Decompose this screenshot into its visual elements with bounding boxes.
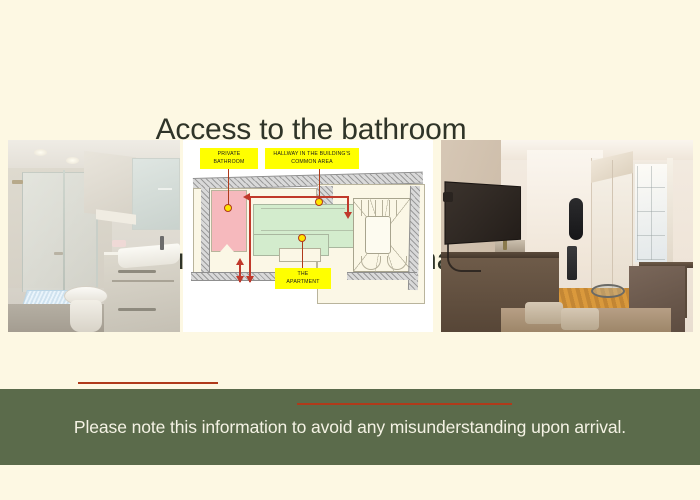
connector-line-bathroom bbox=[78, 382, 218, 384]
callout-line: HALLWAY IN THE BUILDING’S COMMON AREA bbox=[269, 151, 355, 166]
route-arrow-left bbox=[243, 193, 250, 201]
callout-line: THE APARTMENT bbox=[279, 271, 327, 286]
soap-dish bbox=[112, 240, 126, 247]
anchor-dot-bathroom bbox=[224, 204, 232, 212]
drawer-handle bbox=[118, 270, 156, 273]
ceiling-light-icon bbox=[34, 149, 47, 156]
folded-towel bbox=[525, 302, 563, 324]
stick-vacuum bbox=[567, 246, 577, 280]
callout-line: PRIVATE BATHROOM bbox=[204, 151, 254, 166]
mirror-reflection bbox=[158, 188, 172, 190]
callout-private-bathroom: PRIVATE BATHROOM bbox=[200, 148, 258, 169]
route-arrow-down bbox=[344, 212, 352, 219]
media-row: PRIVATE BATHROOM HALLWAY IN THE BUILDING… bbox=[0, 140, 700, 332]
callout-hallway: HALLWAY IN THE BUILDING’S COMMON AREA bbox=[265, 148, 359, 169]
faucet-icon bbox=[160, 236, 164, 250]
plan-partition-line bbox=[261, 208, 345, 209]
cable-bundle bbox=[447, 244, 481, 272]
glass-side-table bbox=[591, 284, 625, 298]
notice-banner: Please note this information to avoid an… bbox=[0, 389, 700, 465]
stair-straight-treads bbox=[361, 200, 401, 216]
callout-apartment: THE APARTMENT bbox=[275, 268, 331, 289]
building-floor-plan: PRIVATE BATHROOM HALLWAY IN THE BUILDING… bbox=[183, 140, 433, 332]
floor-plan-stage: PRIVATE BATHROOM HALLWAY IN THE BUILDING… bbox=[183, 140, 433, 332]
shower-glass-edge bbox=[63, 170, 65, 298]
private-bathroom-photo bbox=[8, 140, 180, 332]
route-arrow-up bbox=[236, 258, 244, 265]
tv-wall-mount bbox=[443, 192, 453, 202]
route-arrow-down bbox=[246, 276, 254, 283]
shower-fixture bbox=[12, 180, 23, 184]
wall-mounted-tv bbox=[444, 181, 521, 244]
drawer-handle bbox=[118, 308, 156, 311]
anchor-dot-hallway bbox=[315, 198, 323, 206]
wall-hatch-left bbox=[201, 188, 210, 276]
apartment-scene bbox=[441, 140, 693, 332]
leader-line-apartment bbox=[302, 238, 303, 272]
vanity-drawer-seam bbox=[112, 280, 174, 282]
counter-items bbox=[495, 240, 525, 252]
shower-door-handle bbox=[54, 252, 63, 255]
wall-hatch-bottom-right bbox=[347, 272, 417, 280]
ceiling-light-icon bbox=[66, 157, 79, 164]
slide-root: Access to the bathroom is through the bu… bbox=[0, 0, 700, 500]
apartment-interior-photo bbox=[441, 140, 693, 332]
stair-void bbox=[365, 216, 391, 254]
plan-partition-line bbox=[261, 230, 357, 231]
route-segment bbox=[249, 196, 251, 282]
window-frame bbox=[667, 158, 673, 268]
toilet-bowl bbox=[70, 300, 102, 332]
leader-line-bathroom bbox=[228, 168, 229, 208]
hanging-coat bbox=[569, 198, 583, 240]
overhead-cabinet bbox=[84, 151, 136, 219]
leader-line-hallway bbox=[319, 168, 320, 202]
bathroom-scene bbox=[8, 140, 180, 332]
route-segment bbox=[249, 196, 349, 198]
notice-banner-text: Please note this information to avoid an… bbox=[74, 417, 626, 438]
anchor-dot-apartment bbox=[298, 234, 306, 242]
window-panes bbox=[637, 166, 665, 260]
folded-towel bbox=[561, 308, 599, 330]
connector-line-apartment bbox=[297, 403, 512, 405]
vanity-mirror bbox=[132, 158, 180, 230]
route-arrow-down bbox=[236, 276, 244, 283]
plan-apartment-niche bbox=[279, 248, 321, 262]
